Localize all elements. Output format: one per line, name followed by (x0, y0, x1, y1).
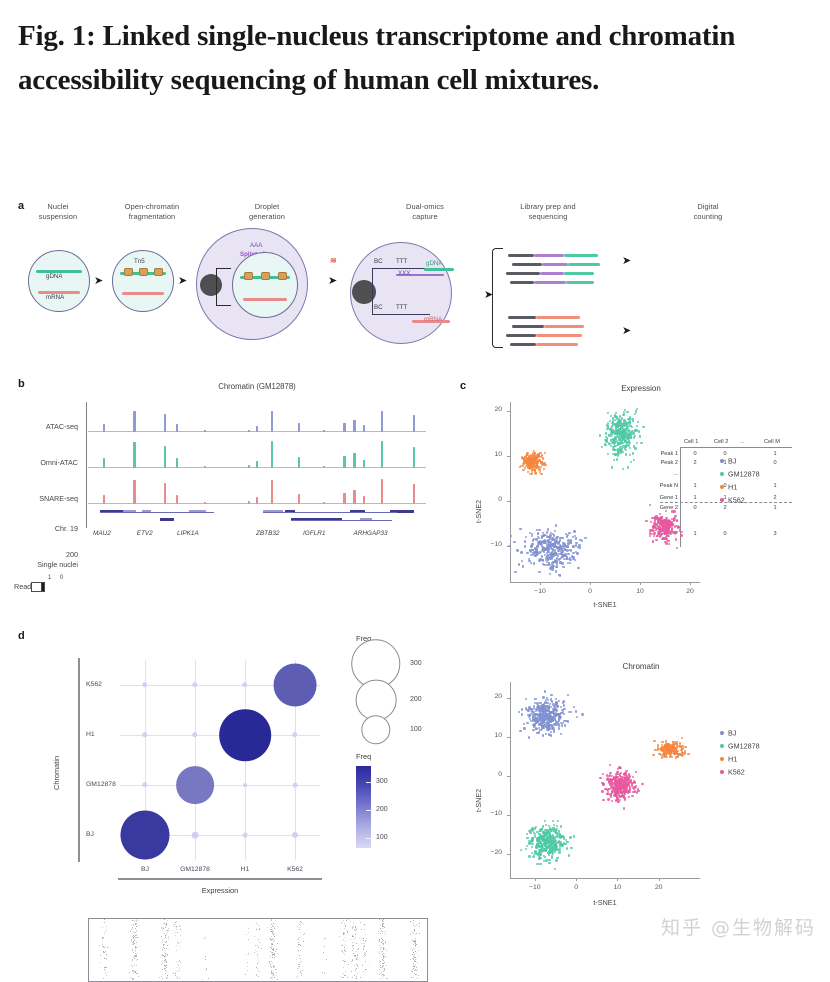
nucleus-read-dot (276, 935, 277, 936)
nucleus-read-dot (345, 961, 346, 962)
scatter-point (561, 556, 563, 558)
nucleus-read-dot (345, 941, 346, 942)
scatter-point (552, 703, 554, 705)
nucleus-read-dot (413, 920, 414, 921)
peak-bar (413, 415, 415, 432)
peak-bar (413, 447, 415, 468)
nucleus-read-dot (382, 923, 383, 924)
scatter-point (559, 847, 561, 849)
peak-bar (204, 430, 206, 432)
scatter-point (601, 782, 603, 784)
nucleus-read-dot (382, 963, 383, 964)
nucleus-read-dot (346, 965, 347, 966)
y-tick-label: 0 (482, 496, 502, 503)
color-legend-bar (356, 766, 371, 848)
peak-bar (204, 466, 206, 468)
scatter-point (541, 844, 543, 846)
y-tick (507, 501, 510, 502)
nucleus-read-dot (414, 954, 415, 955)
nucleus-read-dot (177, 932, 178, 933)
mrna-right-label: mRNA (424, 316, 442, 323)
scatter-point (681, 755, 683, 757)
legend-item-gm12878[interactable]: GM12878 (720, 469, 760, 482)
scatter-point (546, 564, 548, 566)
panel-e-title: Chromatin (452, 662, 830, 671)
nucleus-read-dot (135, 937, 136, 938)
ttt-label-bottom: TTT (396, 304, 407, 311)
scatter-point (534, 702, 536, 704)
nucleus-read-dot (166, 965, 167, 966)
scatter-point (554, 718, 556, 720)
nucleus-read-dot (344, 950, 345, 951)
color-legend-tick (366, 838, 371, 839)
scatter-point (536, 545, 538, 547)
sequence-fragment (512, 325, 544, 328)
scatter-point (611, 429, 613, 431)
nucleus-read-dot (272, 925, 273, 926)
peak-bar (363, 425, 365, 432)
panel-e-xlabel: t-SNE1 (510, 898, 700, 907)
nucleus-read-dot (162, 929, 163, 930)
legend-item-gm12878[interactable]: GM12878 (720, 741, 760, 754)
nucleus-read-dot (105, 971, 106, 972)
nucleus-read-dot (133, 943, 134, 944)
nucleus-read-dot (379, 945, 380, 946)
nucleus-read-dot (163, 955, 164, 956)
nucleus-read-dot (347, 931, 348, 932)
x-tick (590, 582, 591, 585)
scatter-point (568, 854, 570, 856)
tn5-enzyme-2 (139, 268, 148, 276)
nucleus-read-dot (180, 925, 181, 926)
nucleus-read-dot (259, 942, 260, 943)
scatter-point (649, 504, 651, 506)
dotplot-x-axis-bar (118, 878, 322, 880)
nucleus-read-dot (260, 942, 261, 943)
scatter-point (637, 421, 639, 423)
x-axis-line (510, 582, 700, 583)
legend-item-h1[interactable]: H1 (720, 754, 760, 767)
nucleus-read-dot (168, 938, 169, 939)
scatter-point (666, 756, 668, 758)
nucleus-read-dot (303, 934, 304, 935)
nucleus-read-dot (415, 951, 416, 952)
scatter-point (550, 731, 552, 733)
dotplot-dot[interactable] (219, 709, 271, 761)
scatter-point (561, 724, 563, 726)
scatter-point (651, 529, 653, 531)
nucleus-read-dot (353, 945, 354, 946)
scatter-point (572, 546, 574, 548)
tn5-enzyme-5 (261, 272, 270, 280)
nucleus-read-dot (355, 977, 356, 978)
scatter-point (556, 825, 558, 827)
scatter-point (546, 531, 548, 533)
scatter-point (626, 442, 628, 444)
nucleus-read-dot (352, 942, 353, 943)
scatter-point (543, 855, 545, 857)
nucleus-read-dot (384, 969, 385, 970)
nucleus-read-dot (179, 960, 180, 961)
legend-swatch-bj (720, 459, 724, 463)
dotplot-dot[interactable] (176, 766, 214, 804)
scatter-point (558, 541, 560, 543)
nucleus-read-dot (277, 953, 278, 954)
nucleus-read-dot (178, 965, 179, 966)
peak-bar (343, 493, 345, 504)
nucleus-read-dot (255, 950, 256, 951)
arrow-icon-6: ➤ (622, 326, 631, 337)
arrow-icon-4: ➤ (484, 290, 493, 301)
legend-item-bj[interactable]: BJ (720, 456, 760, 469)
nucleus-read-dot (136, 926, 137, 927)
nucleus-read-dot (415, 964, 416, 965)
scatter-point (531, 472, 533, 474)
scatter-point (673, 510, 675, 512)
nucleus-read-dot (413, 956, 414, 957)
legend-item-k562[interactable]: K562 (720, 767, 760, 780)
nucleus-read-dot (271, 971, 272, 972)
read-legend: Read 1 0 (14, 582, 31, 591)
gdna-right-label: gDNA (426, 260, 443, 267)
sequence-fragment (512, 263, 542, 266)
scatter-point (529, 708, 531, 710)
scatter-point (607, 798, 609, 800)
legend-item-bj[interactable]: BJ (720, 728, 760, 741)
gene-names-row: MAU2ETV2LIPK1AZBTB32IGFLR1ARHGAP33 (88, 530, 426, 544)
nucleus-read-dot (380, 928, 381, 929)
nucleus-read-dot (297, 976, 298, 977)
sequence-fragment (564, 272, 594, 275)
nucleus-read-dot (354, 939, 355, 940)
scatter-point (671, 746, 673, 748)
nucleus-read-dot (267, 927, 268, 928)
scatter-point (615, 789, 617, 791)
nucleus-read-dot (297, 926, 298, 927)
scatter-point (684, 746, 686, 748)
nucleus-read-dot (176, 927, 177, 928)
nucleus-read-dot (99, 945, 100, 946)
single-nuclei-heatmap (88, 918, 428, 982)
nucleus-read-dot (299, 955, 300, 956)
dotplot-dot[interactable] (142, 682, 147, 687)
nucleus-read-dot (417, 978, 418, 979)
mrna-strand-2 (122, 292, 164, 295)
peak-bar (271, 411, 273, 432)
dotplot-dot[interactable] (292, 832, 298, 838)
nucleus-read-dot (164, 923, 165, 924)
legend-swatch-gm12878 (720, 472, 724, 476)
scatter-point (525, 698, 527, 700)
nucleus-read-dot (419, 923, 420, 924)
nucleus-read-dot (258, 925, 259, 926)
scatter-point (554, 530, 556, 532)
nucleus-read-dot (342, 945, 343, 946)
nucleus-read-dot (413, 977, 414, 978)
nucleus-read-dot (350, 921, 351, 922)
nucleus-read-dot (345, 945, 346, 946)
dotplot-y-label: GM12878 (86, 781, 116, 788)
nucleus-read-dot (359, 938, 360, 939)
peak-bar (271, 480, 273, 504)
scatter-point (543, 550, 545, 552)
scatter-point (675, 538, 677, 540)
nucleus-read-dot (355, 971, 356, 972)
dotplot-dot[interactable] (192, 732, 197, 737)
nucleus-read-dot (270, 964, 271, 965)
scatter-point (516, 549, 518, 551)
x-tick (535, 878, 536, 881)
nucleus-read-dot (256, 929, 257, 930)
nucleus-read-dot (133, 952, 134, 953)
dotplot-dot[interactable] (274, 664, 317, 707)
scatter-point (518, 711, 520, 713)
peak-bar (298, 423, 300, 432)
scatter-point (634, 787, 636, 789)
scatter-point (531, 843, 533, 845)
nucleus-read-dot (364, 954, 365, 955)
scatter-point (545, 824, 547, 826)
scatter-point (623, 436, 625, 438)
mrna-in-droplet (243, 298, 287, 301)
nucleus-read-dot (416, 958, 417, 959)
scatter-point (565, 720, 567, 722)
sequence-fragment (508, 316, 536, 319)
scatter-point (519, 528, 521, 530)
peak-bar (298, 457, 300, 468)
nucleus-read-dot (271, 946, 272, 947)
nucleus-read-dot (296, 959, 297, 960)
dotplot-dot[interactable] (192, 682, 197, 687)
nucleus-read-dot (205, 959, 206, 960)
scatter-point (634, 782, 636, 784)
peak-bar (176, 458, 178, 468)
nucleus-read-dot (357, 959, 358, 960)
gene-line (100, 512, 214, 513)
nucleus-read-dot (364, 956, 365, 957)
scatter-point (684, 750, 686, 752)
scatter-point (628, 429, 630, 431)
scatter-point (606, 774, 608, 776)
dotplot-dot[interactable] (242, 682, 247, 687)
nucleus-read-dot (363, 948, 364, 949)
dotplot-dot[interactable] (243, 833, 248, 838)
scatter-point (528, 736, 530, 738)
nucleus-read-dot (272, 962, 273, 963)
scatter-point (561, 552, 563, 554)
scatter-point (521, 713, 523, 715)
scatter-point (601, 790, 603, 792)
panel-d-confusion-dotplot: d Chromatin Expression BJGM12878H1K562 B… (0, 630, 450, 920)
nucleus-read-dot (384, 948, 385, 949)
nucleus-read-dot (410, 921, 411, 922)
nucleus-read-dot (350, 939, 351, 940)
nucleus-read-dot (131, 965, 132, 966)
nucleus-read-dot (247, 966, 248, 967)
x-tick-label: 10 (605, 884, 629, 891)
gene-annotation-track (88, 508, 426, 530)
scatter-point (527, 471, 529, 473)
dotplot-dot[interactable] (243, 783, 247, 787)
sequence-fragment (536, 316, 580, 319)
scatter-point (610, 439, 612, 441)
scatter-point (614, 423, 616, 425)
y-tick (507, 456, 510, 457)
scatter-point (636, 442, 638, 444)
scatter-point (653, 740, 655, 742)
nucleus-read-dot (412, 950, 413, 951)
scatter-point (636, 425, 638, 427)
nucleus-read-dot (255, 945, 256, 946)
nucleus-read-dot (347, 977, 348, 978)
nucleus-read-dot (161, 928, 162, 929)
nucleus-read-dot (383, 971, 384, 972)
nucleus-read-dot (418, 955, 419, 956)
nucleus-read-dot (365, 941, 366, 942)
scatter-point (632, 452, 634, 454)
nucleus-read-dot (323, 952, 324, 953)
nucleus-read-dot (364, 952, 365, 953)
scatter-point (552, 549, 554, 551)
nucleus-read-dot (380, 949, 381, 950)
dotplot-x-label: H1 (223, 866, 267, 873)
legend-label: GM12878 (728, 470, 760, 479)
tn5-enzyme-3 (154, 268, 163, 276)
nucleus-read-dot (298, 942, 299, 943)
size-legend-value: 200 (410, 696, 422, 703)
scatter-point (602, 799, 604, 801)
nucleus-read-dot (365, 934, 366, 935)
scatter-point (522, 469, 524, 471)
panel-d-letter: d (18, 630, 25, 642)
scatter-point (525, 536, 527, 538)
nucleus-read-dot (352, 950, 353, 951)
nucleus-read-dot (273, 941, 274, 942)
nucleus-read-dot (274, 954, 275, 955)
scatter-point (546, 829, 548, 831)
nucleus-read-dot (366, 951, 367, 952)
tn5-enzyme-6 (278, 272, 287, 280)
nucleus-read-dot (383, 943, 384, 944)
gene-block (160, 518, 173, 521)
scatter-point (548, 859, 550, 861)
dotplot-dot[interactable] (192, 832, 199, 839)
nucleus-read-dot (354, 965, 355, 966)
arrow-icon-2: ➤ (178, 276, 187, 287)
nucleus-read-dot (174, 926, 175, 927)
scatter-point (612, 417, 614, 419)
dotplot-x-label: GM12878 (173, 866, 217, 873)
nucleus-read-dot (105, 973, 106, 974)
nucleus-read-dot (178, 943, 179, 944)
legend-swatch-gm12878 (720, 744, 724, 748)
nucleus-read-dot (130, 931, 131, 932)
scatter-point (543, 714, 545, 716)
dotplot-dot[interactable] (142, 732, 147, 737)
scatter-point (620, 425, 622, 427)
nucleus-read-dot (363, 971, 364, 972)
scatter-point (564, 724, 566, 726)
nucleus-read-dot (344, 961, 345, 962)
scatter-point (626, 427, 628, 429)
peak-bar (381, 411, 383, 433)
scatter-point (608, 442, 610, 444)
nucleus-read-dot (253, 923, 254, 924)
nucleus-read-dot (166, 924, 167, 925)
dotplot-dot[interactable] (292, 732, 297, 737)
nucleus-read-dot (274, 928, 275, 929)
scatter-point (664, 753, 666, 755)
nucleus-read-dot (202, 979, 203, 980)
nucleus-read-dot (417, 925, 418, 926)
nucleus-read-dot (385, 934, 386, 935)
sequence-fragment (506, 334, 536, 337)
nucleus-read-dot (175, 922, 176, 923)
bead-bracket-1 (216, 268, 231, 306)
legend-label: H1 (728, 755, 737, 764)
nucleus-read-dot (344, 963, 345, 964)
nucleus-read-dot (381, 975, 382, 976)
peak-bar (164, 483, 166, 504)
panel-c-expression-tsne: c Expression −1001020−1001020 t-SNE2 t-S… (452, 378, 830, 630)
scatter-point (550, 715, 552, 717)
dotplot-dot[interactable] (120, 810, 169, 859)
nucleus-read-dot (413, 925, 414, 926)
nucleus-read-dot (342, 951, 343, 952)
panel-c-xlabel: t-SNE1 (510, 600, 700, 609)
nucleus-read-dot (167, 977, 168, 978)
nucleus-read-dot (254, 936, 255, 937)
scatter-point (577, 567, 579, 569)
legend-item-k562[interactable]: K562 (720, 495, 760, 508)
legend-item-h1[interactable]: H1 (720, 482, 760, 495)
dotplot-dot[interactable] (142, 782, 147, 787)
nucleus-read-dot (165, 927, 166, 928)
dotplot-dot[interactable] (293, 783, 298, 788)
nucleus-read-dot (245, 974, 246, 975)
nucleus-read-dot (383, 944, 384, 945)
nucleus-read-dot (343, 977, 344, 978)
x-tick-label: 10 (628, 588, 652, 595)
nucleus-read-dot (344, 975, 345, 976)
nucleus-read-dot (275, 956, 276, 957)
scatter-point (618, 418, 620, 420)
scatter-point (533, 562, 535, 564)
scatter-point (523, 723, 525, 725)
nucleus-read-dot (364, 924, 365, 925)
nucleus-read-dot (102, 938, 103, 939)
nucleus-read-dot (180, 942, 181, 943)
scatter-point (544, 849, 546, 851)
nucleus-read-dot (383, 956, 384, 957)
scatter-point (576, 716, 578, 718)
scatter-point (554, 850, 556, 852)
peak-bar (271, 441, 273, 468)
scatter-point (523, 727, 525, 729)
scatter-point (525, 848, 527, 850)
scatter-point (552, 852, 554, 854)
scatter-point (619, 795, 621, 797)
nucleus-read-dot (369, 962, 370, 963)
scatter-point (607, 453, 609, 455)
color-legend-title: Freq (356, 752, 371, 761)
peak-bar (248, 465, 250, 468)
scatter-point (620, 451, 622, 453)
x-tick (540, 582, 541, 585)
panel-a-workflow: a Nucleisuspension Open-chromatinfragmen… (0, 196, 830, 372)
nucleus-read-dot (104, 958, 105, 959)
nucleus-read-dot (179, 970, 180, 971)
